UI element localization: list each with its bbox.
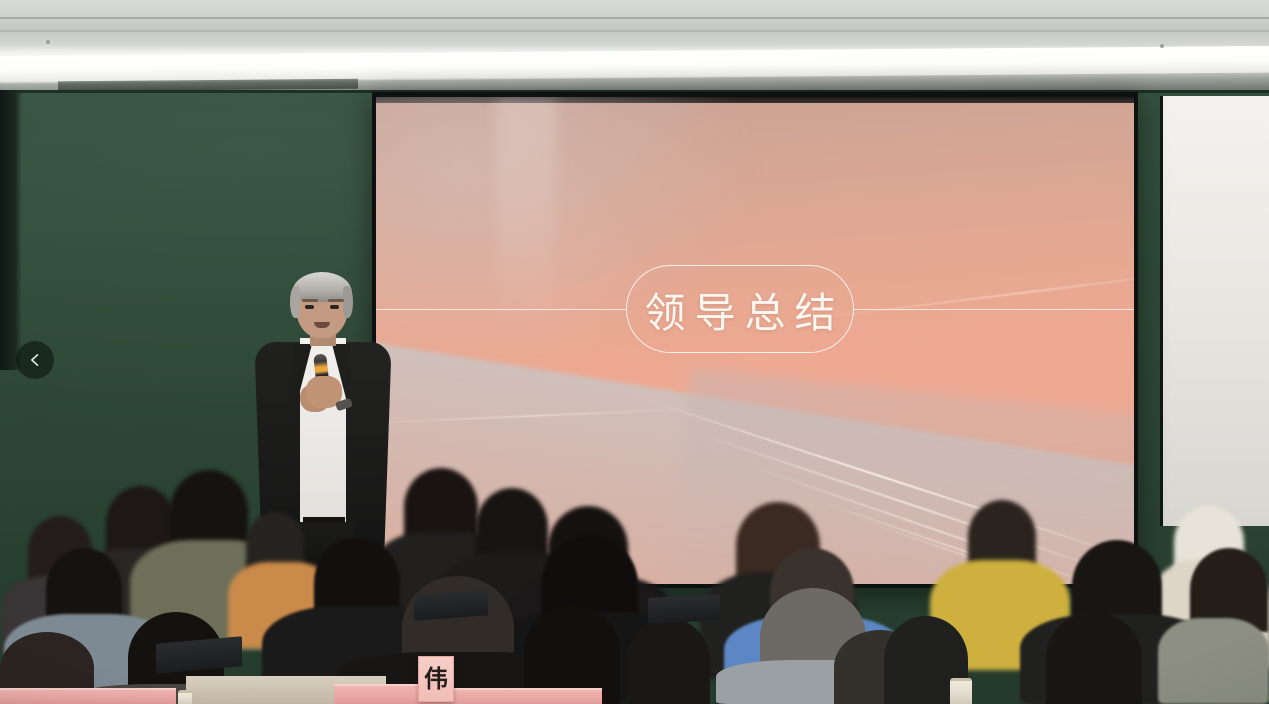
wall-left-shadow [0,90,22,370]
laptop [414,589,488,620]
slide-rule-right [854,309,1134,310]
presenter-eyebrow [328,299,344,302]
previous-button[interactable] [16,341,54,379]
slide-title-pill: 领导总结 [626,265,854,353]
ceiling-seam [0,30,1269,32]
name-placard: 伟 [418,656,454,702]
name-placard-text: 伟 [424,667,448,691]
audience-body [1158,618,1269,704]
ceiling-fixture-dot [46,40,50,44]
ceiling-seam [0,17,1269,19]
water-bottle [950,678,972,704]
audience-head [1046,612,1142,704]
presenter-hair-side [343,286,353,318]
table-cloth [452,688,602,704]
ceiling-fixture-dot [1160,44,1164,48]
presenter-eye [330,305,339,309]
screenshot-root: 领导总结 [0,0,1269,704]
wall-side-board [1160,96,1269,526]
ceiling [0,0,1269,96]
chevron-left-icon [27,352,43,368]
laptop [648,594,720,624]
water-bottle [178,690,192,704]
slide-rule-left [376,309,626,310]
presenter-eye [305,305,314,309]
slide-title-text: 领导总结 [636,279,845,339]
audience-head [626,618,710,704]
presenter-eyebrow [302,299,318,302]
presenter-hair-side [290,286,300,318]
table-cloth [0,688,176,704]
